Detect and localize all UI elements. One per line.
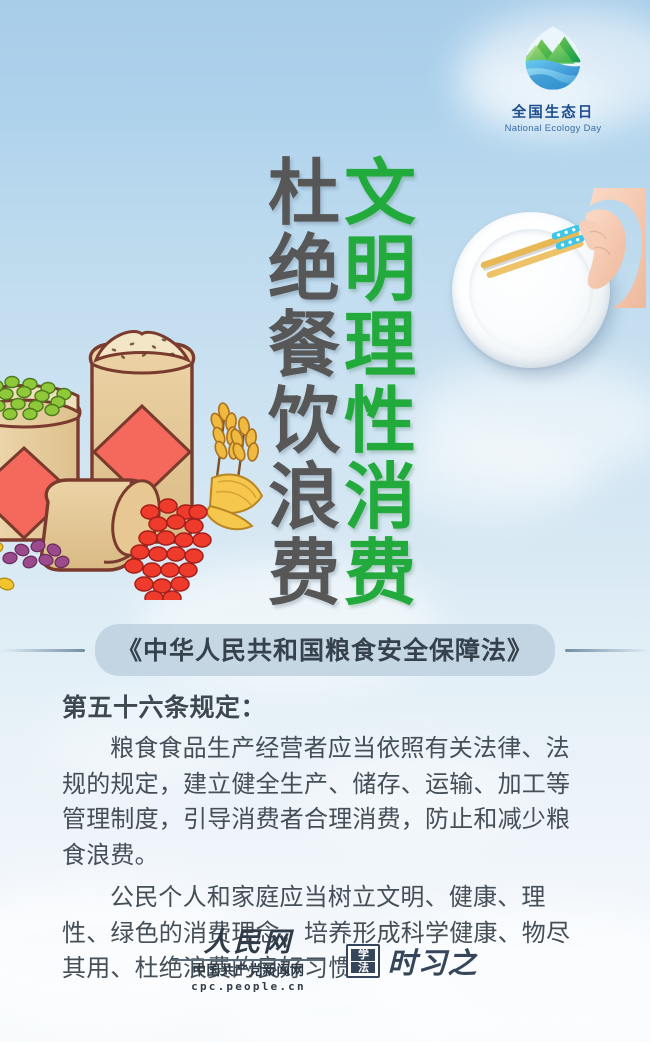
ecology-mountain-water-icon [517, 22, 589, 94]
law-title-banner: 《中华人民共和国粮食安全保障法》 [0, 626, 650, 674]
wheat-stalk-icon [206, 402, 262, 529]
footer-divider [172, 959, 324, 961]
xuefa-shixizhi-logo[interactable]: 学 法 时习之 [346, 940, 477, 982]
title-char: 明 [344, 234, 416, 310]
shixizhi-text: 时习之 [387, 940, 477, 982]
xuefa-badge-top: 学 [351, 949, 375, 961]
hand-icon [560, 188, 646, 308]
poster-root: 全国生态日 National Ecology Day [0, 0, 650, 1042]
title-char: 绝 [268, 234, 340, 310]
people-brand-text: 人民网 [203, 929, 293, 956]
title-char: 理 [344, 310, 416, 386]
title-char: 餐 [268, 310, 340, 386]
title-char: 费 [344, 538, 416, 614]
title-char: 费 [268, 538, 340, 614]
title-char: 消 [344, 462, 416, 538]
logo-title-cn: 全国生态日 [488, 101, 618, 122]
people-cn-logo[interactable]: 人民网 中国共产党新闻网 cpc.people.cn [172, 929, 324, 993]
article-heading: 第五十六条规定： [62, 688, 590, 724]
people-url: cpc.people.cn [191, 980, 306, 993]
title-char: 性 [344, 386, 416, 462]
footer: 人民网 中国共产党新闻网 cpc.people.cn 学 法 时习之 [0, 928, 650, 994]
title-column-green: 文 明 理 性 消 费 [344, 158, 416, 614]
article-paragraph: 粮食食品生产经营者应当依照有关法律、法规的规定，建立健全生产、储存、运输、加工等… [62, 731, 590, 873]
xuefa-badge-bottom: 法 [351, 962, 375, 974]
cloud-decoration [390, 430, 590, 520]
logo-title-en: National Ecology Day [488, 123, 618, 134]
xuefa-badge: 学 法 [346, 944, 380, 978]
people-subtitle: 中国共产党新闻网 [192, 963, 304, 979]
law-title-text: 《中华人民共和国粮食安全保障法》 [95, 624, 555, 676]
title-column-gray: 杜 绝 餐 饮 浪 费 [268, 158, 340, 614]
grain-sacks-icon [0, 300, 276, 600]
page-title: 文 明 理 性 消 费 杜 绝 餐 饮 浪 费 [268, 158, 416, 614]
national-ecology-day-logo: 全国生态日 National Ecology Day [488, 22, 618, 134]
title-char: 浪 [268, 462, 340, 538]
plate-illustration [452, 212, 614, 374]
banner-rule-right [565, 649, 650, 652]
title-char: 饮 [268, 386, 340, 462]
title-char: 文 [344, 158, 416, 234]
banner-rule-left [0, 649, 85, 652]
title-char: 杜 [268, 158, 340, 234]
